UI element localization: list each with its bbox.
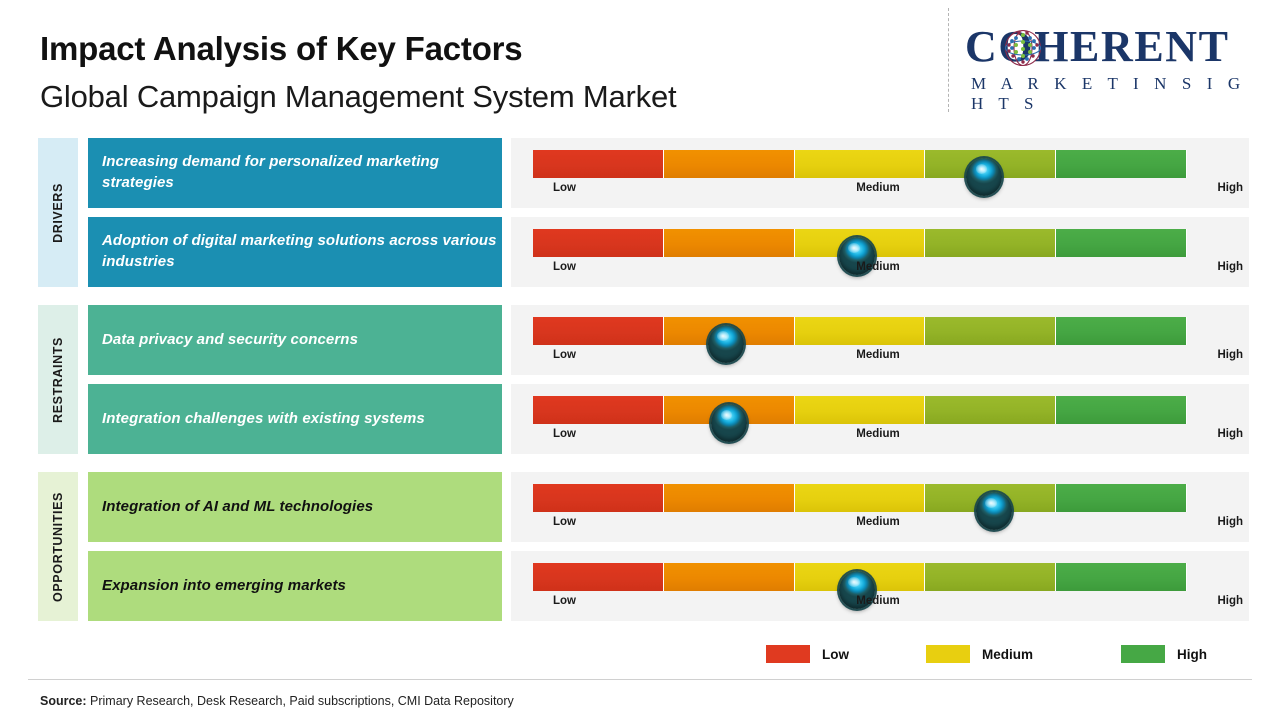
scale-label-low: Low [553,428,576,440]
factor-row: Integration of AI and ML technologiesLow… [0,472,1280,542]
scale-label-medium: Medium [856,595,899,607]
gauge-segment-medium [795,484,926,512]
gauge-segment-high [1056,484,1187,512]
gauge-scale-labels: LowMediumHigh [533,516,1233,536]
logo-tagline: M A R K E T I N S I G H T S [971,74,1265,114]
legend-item: Medium [926,645,1033,663]
gauge-segment-medium-high [925,317,1056,345]
gauge-segment-medium-high [925,229,1056,257]
gauge-scale-labels: LowMediumHigh [533,428,1233,448]
page-title: Impact Analysis of Key Factors [40,32,676,65]
factor-box: Data privacy and security concerns [88,305,502,375]
legend-item: Low [766,645,849,663]
legend-label: Medium [982,647,1033,662]
gauge-scale-labels: LowMediumHigh [533,595,1233,615]
scale-label-high: High [1217,182,1243,194]
header-dashed-divider [948,8,949,112]
factor-box: Integration challenges with existing sys… [88,384,502,454]
gauge-track [533,150,1187,178]
gauge-segment-very-low [533,229,664,257]
gauge-segment-low [664,150,795,178]
source-note: Source: Primary Research, Desk Research,… [40,694,514,708]
scale-label-medium: Medium [856,428,899,440]
gauge-segment-high [1056,150,1187,178]
source-text: Primary Research, Desk Research, Paid su… [87,694,514,708]
gauge-track [533,317,1187,345]
gauge-track [533,229,1187,257]
gauge-track [533,563,1187,591]
scale-label-high: High [1217,261,1243,273]
gauge-segment-very-low [533,150,664,178]
legend-swatch [926,645,970,663]
factor-label: Increasing demand for personalized marke… [102,152,502,193]
footer-divider [28,679,1252,680]
scale-label-low: Low [553,516,576,528]
legend-swatch [766,645,810,663]
scale-label-low: Low [553,261,576,273]
legend: LowMediumHigh [766,645,1216,669]
title-block: Impact Analysis of Key Factors Global Ca… [40,32,676,112]
impact-gauge: LowMediumHigh [511,472,1249,542]
factor-label: Adoption of digital marketing solutions … [102,231,502,272]
gauge-segment-medium-high [925,563,1056,591]
gauge-segment-low [664,229,795,257]
impact-gauge: LowMediumHigh [511,138,1249,208]
factor-row: Expansion into emerging marketsLowMedium… [0,551,1280,621]
gauge-scale-labels: LowMediumHigh [533,261,1233,281]
gauge-segment-very-low [533,484,664,512]
impact-gauge: LowMediumHigh [511,551,1249,621]
page-subtitle: Global Campaign Management System Market [40,81,676,112]
gauge-segment-medium [795,150,926,178]
legend-label: Low [822,647,849,662]
gauge-track [533,396,1187,424]
gauge-segment-medium [795,317,926,345]
legend-label: High [1177,647,1207,662]
scale-label-high: High [1217,516,1243,528]
factor-box: Expansion into emerging markets [88,551,502,621]
gauge-segment-high [1056,317,1187,345]
scale-label-medium: Medium [856,516,899,528]
scale-label-low: Low [553,349,576,361]
infographic-slide: Impact Analysis of Key Factors Global Ca… [0,0,1280,720]
impact-gauge: LowMediumHigh [511,305,1249,375]
scale-label-medium: Medium [856,261,899,273]
scale-label-high: High [1217,595,1243,607]
gauge-segment-very-low [533,396,664,424]
logo-wordmark-row: COHERENT [965,24,1265,70]
factor-row: Integration challenges with existing sys… [0,384,1280,454]
gauge-segment-high [1056,229,1187,257]
factor-row: Adoption of digital marketing solutions … [0,217,1280,287]
scale-label-high: High [1217,349,1243,361]
scale-label-low: Low [553,182,576,194]
factor-box: Increasing demand for personalized marke… [88,138,502,208]
source-label: Source: [40,694,87,708]
factor-label: Integration of AI and ML technologies [102,497,373,518]
gauge-segment-very-low [533,317,664,345]
scale-label-medium: Medium [856,349,899,361]
gauge-scale-labels: LowMediumHigh [533,182,1233,202]
gauge-segment-medium [795,396,926,424]
factor-box: Integration of AI and ML technologies [88,472,502,542]
factor-label: Integration challenges with existing sys… [102,409,425,430]
gauge-segment-very-low [533,563,664,591]
factor-row: Increasing demand for personalized marke… [0,138,1280,208]
gauge-segment-low [664,563,795,591]
factor-label: Expansion into emerging markets [102,576,346,597]
gauge-segment-medium-high [925,396,1056,424]
legend-item: High [1121,645,1207,663]
gauge-segment-high [1056,396,1187,424]
gauge-track [533,484,1187,512]
factor-row: Data privacy and security concernsLowMed… [0,305,1280,375]
legend-swatch [1121,645,1165,663]
impact-gauge: LowMediumHigh [511,384,1249,454]
impact-gauge: LowMediumHigh [511,217,1249,287]
gauge-segment-low [664,484,795,512]
scale-label-medium: Medium [856,182,899,194]
globe-icon [1004,29,1042,67]
coherent-market-insights-logo: COHERENT [965,24,1265,104]
gauge-scale-labels: LowMediumHigh [533,349,1233,369]
scale-label-high: High [1217,428,1243,440]
header: Impact Analysis of Key Factors Global Ca… [0,0,1280,130]
factor-label: Data privacy and security concerns [102,330,358,351]
scale-label-low: Low [553,595,576,607]
gauge-segment-high [1056,563,1187,591]
factor-box: Adoption of digital marketing solutions … [88,217,502,287]
